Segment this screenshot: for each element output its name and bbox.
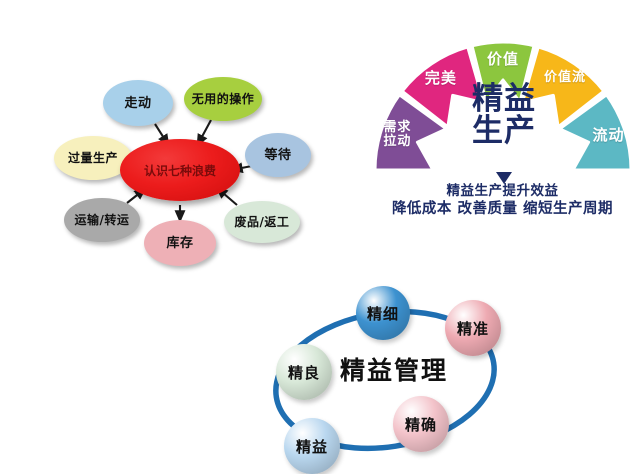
ring-node-label: 精益 (296, 436, 328, 457)
ring-node-label: 精准 (457, 318, 489, 339)
ring-node-label: 精确 (405, 414, 437, 435)
ring-node-5[interactable]: 精良 (276, 344, 332, 400)
ring-node-3[interactable]: 精确 (393, 396, 449, 452)
ring-node-1[interactable]: 精细 (356, 286, 410, 340)
ring-node-4[interactable]: 精益 (284, 418, 340, 474)
ring-node-label: 精细 (367, 303, 399, 324)
ring-node-2[interactable]: 精准 (445, 300, 501, 356)
lean-management-diagram: 精细精准精确精益精良 精益管理 (255, 275, 525, 460)
ring-title: 精益管理 (340, 351, 448, 387)
ring-node-label: 精良 (288, 362, 320, 383)
diagram-canvas: 走动无用的操作等待废品/返工库存运输/转运过量生产 认识七种浪费 需求拉动完美价… (0, 0, 635, 460)
